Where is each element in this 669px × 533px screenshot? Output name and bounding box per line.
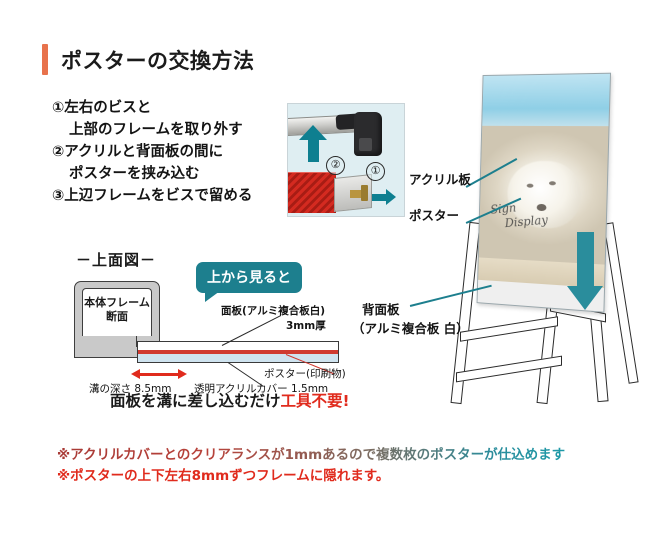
cross-section-heading: －上面図－: [76, 249, 156, 270]
panel-sky-area: [482, 74, 610, 131]
note-clearance: ※アクリルカバーとのクリアランスが1mmあるので複数枚のポスターが仕込めます: [57, 443, 565, 463]
label-poster: ポスター: [409, 205, 459, 224]
poster-red-photo: [287, 172, 336, 213]
layer-acrylic: [137, 354, 339, 363]
poster-script-text: Sign Display: [489, 198, 548, 233]
frame-cross-section: 本体フレーム 断面: [74, 281, 160, 339]
step-2: ②アクリルと背面板の間に: [52, 141, 252, 163]
tagline: 面板を溝に差し込むだけ工具不要!: [110, 389, 350, 411]
step-list: ①左右のビスと 上部のフレームを取り外す ②アクリルと背面板の間に ポスターを挟…: [52, 97, 252, 207]
marker-step-1: ①: [366, 162, 385, 181]
tagline-main: 面板を溝に差し込むだけ: [110, 392, 281, 410]
label-panel-thickness: 3mm厚: [286, 318, 326, 333]
stand-leg-right-back: [603, 222, 638, 384]
groove-depth-arrow: [131, 369, 187, 379]
tagline-highlight: 工具不要!: [281, 392, 350, 410]
corner-bracket-icon: [354, 112, 382, 156]
label-panel-material: 面板(アルミ複合板白): [221, 303, 325, 318]
dog-eye-right: [548, 181, 555, 185]
note-hidden-margin: ※ポスターの上下左右8mmずつフレームに隠れます。: [57, 464, 389, 484]
step-3: ③上辺フレームをビスで留める: [52, 185, 252, 207]
view-from-top-balloon: 上から見ると: [196, 262, 302, 293]
page-title: ポスターの交換方法: [42, 44, 255, 75]
corner-detail-photo: ② ①: [287, 103, 405, 217]
label-acrylic-board: アクリル板: [409, 169, 471, 188]
label-backboard: 背面板: [362, 299, 400, 318]
instruction-sheet: ポスターの交換方法 ①左右のビスと 上部のフレームを取り外す ②アクリルと背面板…: [0, 0, 669, 533]
sign-stand-illustration: Sign Display: [430, 72, 665, 402]
title-accent-bar: [42, 44, 48, 75]
title-text: ポスターの交換方法: [61, 45, 255, 75]
layer-stack: [137, 341, 337, 365]
marker-step-2: ②: [326, 156, 345, 175]
step-1-cont: 上部のフレームを取り外す: [52, 119, 252, 141]
label-backboard-material: （アルミ複合板 白）: [352, 318, 469, 337]
label-poster-print: ポスター(印刷物): [264, 366, 346, 381]
step-1: ①左右のビスと: [52, 97, 252, 119]
frame-label: 本体フレーム 断面: [82, 288, 152, 338]
step-2-cont: ポスターを挟み込む: [52, 163, 252, 185]
